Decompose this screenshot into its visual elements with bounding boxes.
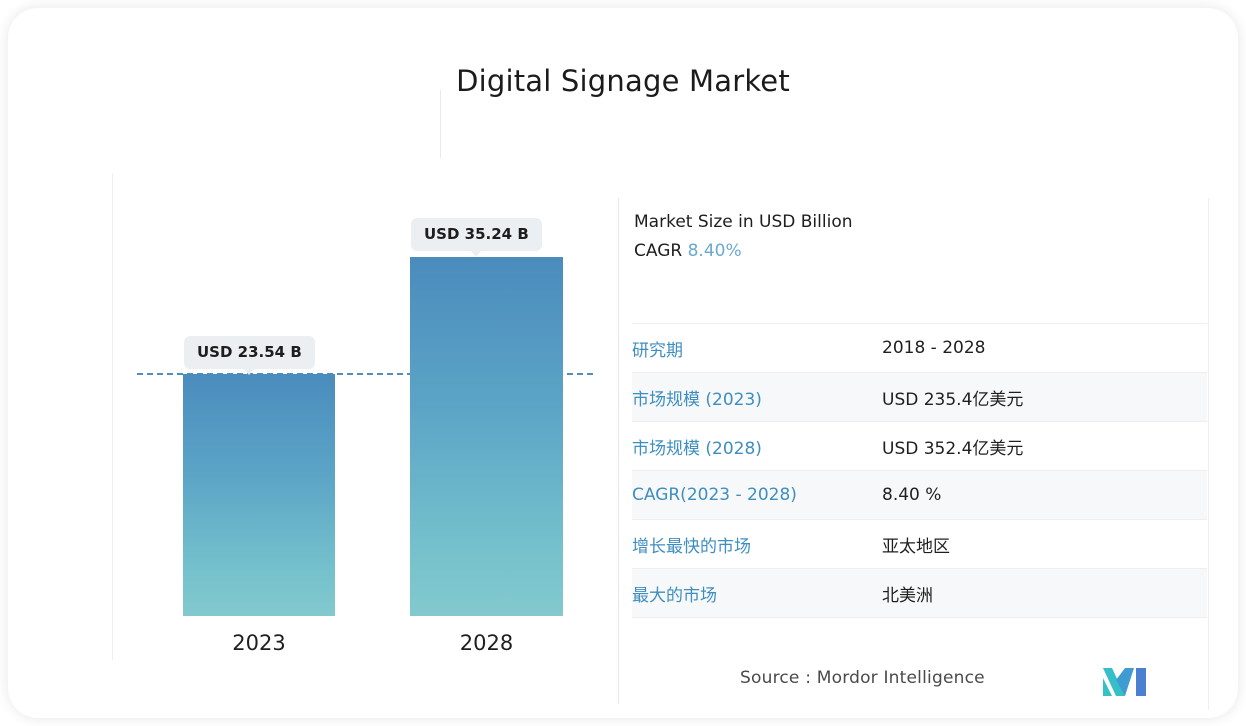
row-value: 2018 - 2028 — [882, 324, 1207, 373]
table-row: 研究期 2018 - 2028 — [632, 324, 1207, 373]
cagr-value: 8.40% — [688, 241, 742, 261]
table-row: 增长最快的市场 亚太地区 — [632, 520, 1207, 569]
title-divider — [440, 90, 441, 158]
row-value: 8.40 % — [882, 471, 1207, 520]
bar-label-2028: USD 35.24 B — [411, 218, 542, 251]
footer: Source : Mordor Intelligence — [618, 648, 1210, 710]
page-title: Digital Signage Market — [8, 64, 1238, 98]
row-key: 最大的市场 — [632, 569, 882, 618]
info-right-divider — [1208, 198, 1209, 710]
table-row: CAGR(2023 - 2028) 8.40 % — [632, 471, 1207, 520]
info-panel: Market Size in USD Billion CAGR 8.40% 研究… — [618, 198, 1210, 648]
table-row: 市场规模 (2028) USD 352.4亿美元 — [632, 422, 1207, 471]
bar-chart: USD 23.54 B USD 35.24 B 2023 2028 — [112, 173, 610, 660]
bar-label-2023: USD 23.54 B — [184, 336, 315, 369]
bar-2023[interactable] — [183, 374, 335, 616]
bar-2028[interactable] — [410, 257, 563, 616]
row-key: 市场规模 (2023) — [632, 373, 882, 422]
table-row: 最大的市场 北美洲 — [632, 569, 1207, 618]
row-key: CAGR(2023 - 2028) — [632, 471, 882, 520]
stats-table: 研究期 2018 - 2028 市场规模 (2023) USD 235.4亿美元… — [632, 323, 1207, 618]
footer-left-divider — [618, 648, 619, 704]
row-value: USD 352.4亿美元 — [882, 422, 1207, 471]
cagr-line: CAGR 8.40% — [634, 237, 853, 266]
row-key: 市场规模 (2028) — [632, 422, 882, 471]
table-row: 市场规模 (2023) USD 235.4亿美元 — [632, 373, 1207, 422]
mordor-intelligence-logo-icon — [1103, 668, 1147, 696]
x-axis-tick-2028: 2028 — [410, 631, 563, 655]
row-key: 研究期 — [632, 324, 882, 373]
info-left-divider — [618, 198, 619, 648]
header: Digital Signage Market — [8, 56, 1238, 132]
row-value: 亚太地区 — [882, 520, 1207, 569]
row-key: 增长最快的市场 — [632, 520, 882, 569]
stats-table-body: 研究期 2018 - 2028 市场规模 (2023) USD 235.4亿美元… — [632, 324, 1207, 618]
row-value: 北美洲 — [882, 569, 1207, 618]
source-attribution: Source : Mordor Intelligence — [740, 668, 985, 688]
chart-plot-area: USD 23.54 B USD 35.24 B 2023 2028 — [112, 173, 610, 660]
metric-label: Market Size in USD Billion — [634, 208, 853, 237]
cagr-label: CAGR — [634, 241, 688, 261]
row-value: USD 235.4亿美元 — [882, 373, 1207, 422]
x-axis-tick-2023: 2023 — [183, 631, 335, 655]
summary-block: Market Size in USD Billion CAGR 8.40% — [634, 208, 853, 266]
report-card: Digital Signage Market USD 23.54 B USD 3… — [8, 8, 1238, 718]
